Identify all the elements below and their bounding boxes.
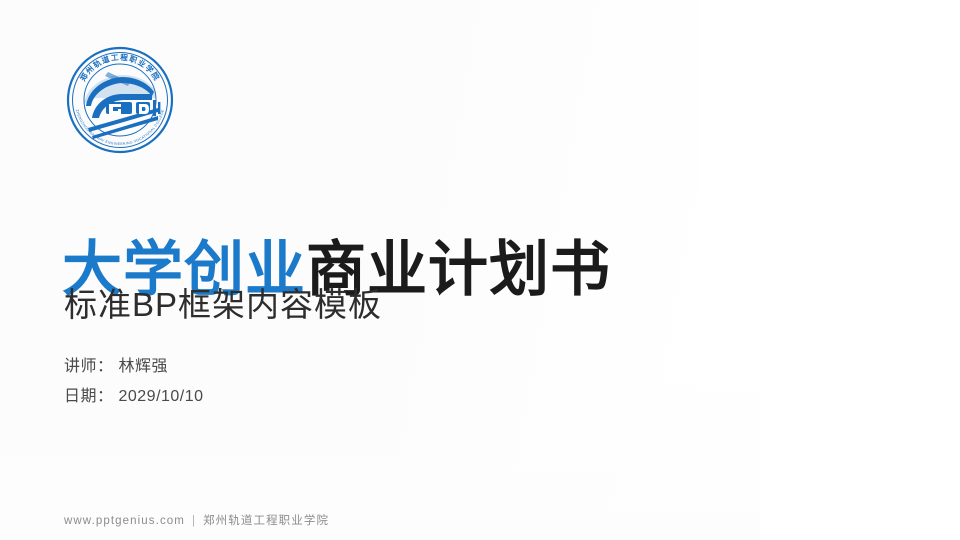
footer-website[interactable]: www.pptgenius.com (64, 515, 185, 527)
footer-separator: | (192, 515, 196, 527)
presentation-title-slide: 郑州轨道工程职业学院 (0, 0, 960, 540)
date-label: 日期： (64, 388, 114, 405)
date-row: 日期： 2029/10/10 (64, 382, 204, 412)
slide-subtitle: 标准BP框架内容模板 (64, 278, 382, 326)
footer-school-name: 郑州轨道工程职业学院 (203, 515, 329, 527)
presenter-label: 讲师： (64, 358, 114, 375)
college-logo: 郑州轨道工程职业学院 ZHENGZHOU RAILWAY ENGINEERING… (62, 42, 178, 158)
presenter-name: 林辉强 (118, 358, 168, 375)
presenter-row: 讲师： 林辉强 (64, 352, 204, 382)
presenter-meta: 讲师： 林辉强 日期： 2029/10/10 (64, 352, 204, 411)
slide-footer: www.pptgenius.com|郑州轨道工程职业学院 (64, 512, 329, 528)
date-value: 2029/10/10 (118, 388, 203, 405)
